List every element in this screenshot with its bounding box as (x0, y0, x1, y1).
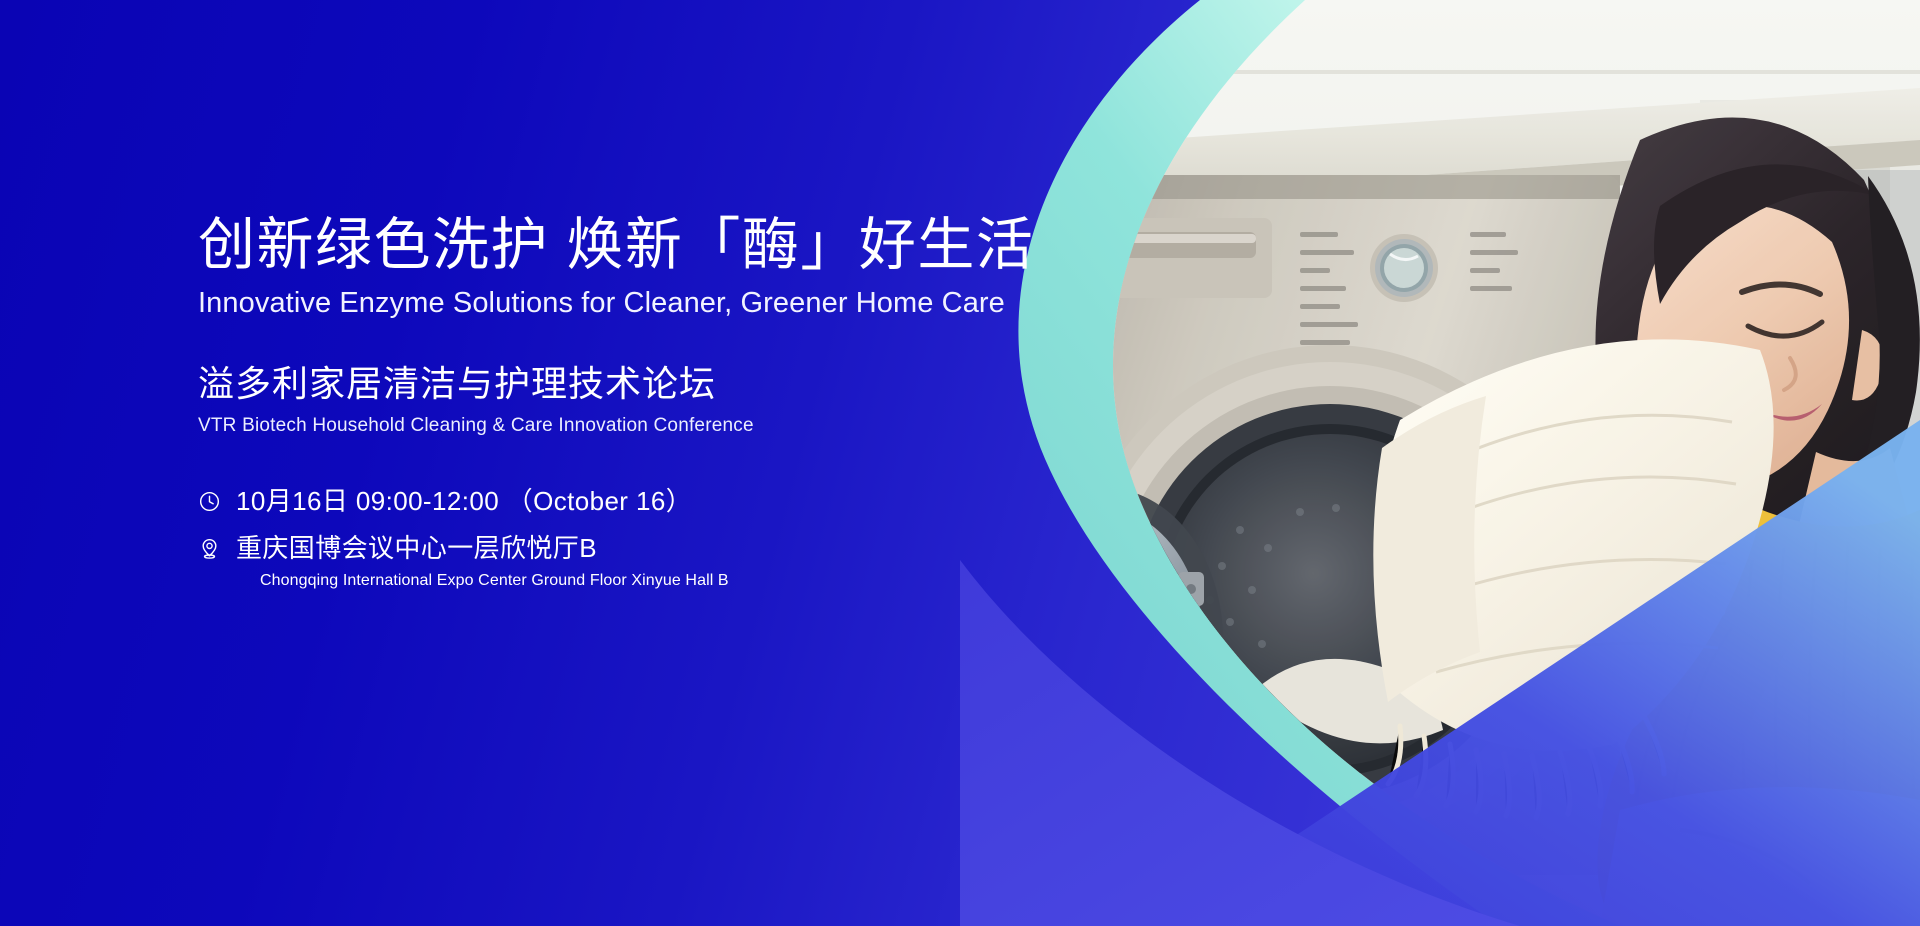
event-details: 10月16日 09:00-12:00 （October 16） 重庆国博会议中心… (198, 485, 1078, 593)
banner-content: 创新绿色洗护 焕新「酶」好生活 Innovative Enzyme Soluti… (198, 212, 1078, 607)
event-location-chinese: 重庆国博会议中心一层欣悦厅B (236, 533, 597, 563)
event-location-english: Chongqing International Expo Center Grou… (260, 570, 729, 592)
location-pin-icon (198, 537, 224, 563)
event-time-chinese: 10月16日 09:00-12:00 （October 16） (236, 486, 692, 516)
event-time-row: 10月16日 09:00-12:00 （October 16） (198, 485, 1078, 519)
headline-english: Innovative Enzyme Solutions for Cleaner,… (198, 285, 1078, 323)
event-location-text-group: 重庆国博会议中心一层欣悦厅B Chongqing International E… (236, 532, 729, 592)
event-time-text-group: 10月16日 09:00-12:00 （October 16） (236, 485, 692, 519)
clock-icon (198, 490, 224, 516)
conference-banner: 创新绿色洗护 焕新「酶」好生活 Innovative Enzyme Soluti… (0, 0, 1920, 926)
headline-chinese: 创新绿色洗护 焕新「酶」好生活 (198, 212, 1078, 279)
subtitle-chinese: 溢多利家居清洁与护理技术论坛 (198, 361, 1078, 406)
event-location-row: 重庆国博会议中心一层欣悦厅B Chongqing International E… (198, 532, 1078, 592)
subtitle-english: VTR Biotech Household Cleaning & Care In… (198, 414, 1078, 439)
